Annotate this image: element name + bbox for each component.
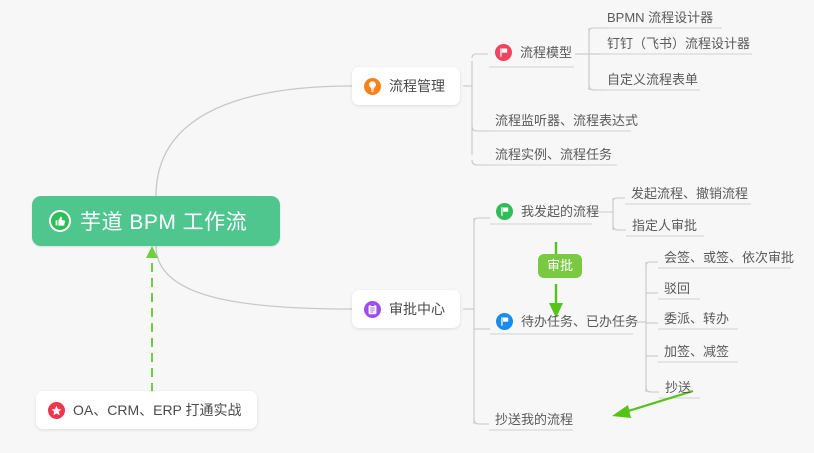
leaf-cc[interactable]: 抄送: [659, 380, 697, 400]
leaf-process-model[interactable]: 流程模型: [489, 44, 578, 65]
leaf-add-remove-sign[interactable]: 加签、减签: [658, 344, 735, 364]
leaf-label: 钉钉（飞书）流程设计器: [607, 36, 750, 52]
leaf-label: 自定义流程表单: [607, 72, 698, 88]
leaf-my-initiated-process[interactable]: 我发起的流程: [490, 203, 605, 224]
leaf-bpmn-designer[interactable]: BPMN 流程设计器: [601, 10, 719, 30]
leaf-reject[interactable]: 驳回: [658, 281, 696, 301]
flag-icon: [495, 44, 512, 61]
leaf-label: 加签、减签: [664, 344, 729, 360]
branch-label: 流程管理: [389, 76, 445, 96]
leaf-label: BPMN 流程设计器: [607, 10, 713, 26]
leaf-process-instance-task[interactable]: 流程实例、流程任务: [489, 147, 618, 167]
leaf-start-cancel-process[interactable]: 发起流程、撤销流程: [625, 186, 754, 206]
star-icon: [48, 402, 65, 419]
leaf-label: 驳回: [664, 281, 690, 297]
branch-approval-center[interactable]: 审批中心: [352, 290, 460, 328]
leaf-label: 委派、转办: [664, 311, 729, 327]
bottom-node-label: OA、CRM、ERP 打通实战: [73, 400, 242, 420]
root-label: 芋道 BPM 工作流: [80, 206, 247, 236]
branch-label: 审批中心: [389, 299, 445, 319]
flag-icon: [496, 313, 513, 330]
leaf-process-listener-expression[interactable]: 流程监听器、流程表达式: [489, 113, 644, 133]
leaf-label: 流程监听器、流程表达式: [495, 113, 638, 129]
root-node[interactable]: 芋道 BPM 工作流: [32, 196, 280, 246]
leaf-countersign-orsign-sequential[interactable]: 会签、或签、依次审批: [658, 250, 800, 270]
flag-icon: [496, 203, 513, 220]
bottom-node-integration[interactable]: OA、CRM、ERP 打通实战: [36, 391, 257, 429]
leaf-label: 抄送: [665, 380, 691, 396]
leaf-todo-done-tasks[interactable]: 待办任务、已办任务: [490, 313, 644, 334]
leaf-label: 会签、或签、依次审批: [664, 250, 794, 266]
leaf-label: 抄送我的流程: [495, 412, 573, 428]
clipboard-icon: [364, 301, 381, 318]
leaf-label: 流程实例、流程任务: [495, 147, 612, 163]
leaf-cc-to-me-process[interactable]: 抄送我的流程: [489, 412, 579, 432]
leaf-dingtalk-feishu-designer[interactable]: 钉钉（飞书）流程设计器: [601, 36, 756, 56]
leaf-label: 我发起的流程: [521, 204, 599, 220]
leaf-label: 发起流程、撤销流程: [631, 186, 748, 202]
branch-process-management[interactable]: 流程管理: [352, 67, 460, 105]
leaf-assigned-approver[interactable]: 指定人审批: [626, 218, 703, 238]
lightbulb-icon: [364, 78, 381, 95]
thumbs-up-icon: [49, 210, 71, 232]
leaf-label: 待办任务、已办任务: [521, 314, 638, 330]
mindmap-canvas: 芋道 BPM 工作流 流程管理 审批中心: [0, 0, 814, 453]
approval-badge-label: 审批: [547, 258, 573, 273]
leaf-delegate-transfer[interactable]: 委派、转办: [658, 311, 735, 331]
approval-highlight-badge: 审批: [538, 254, 582, 278]
leaf-label: 流程模型: [520, 45, 572, 61]
leaf-label: 指定人审批: [632, 218, 697, 234]
leaf-custom-process-form[interactable]: 自定义流程表单: [601, 72, 704, 92]
